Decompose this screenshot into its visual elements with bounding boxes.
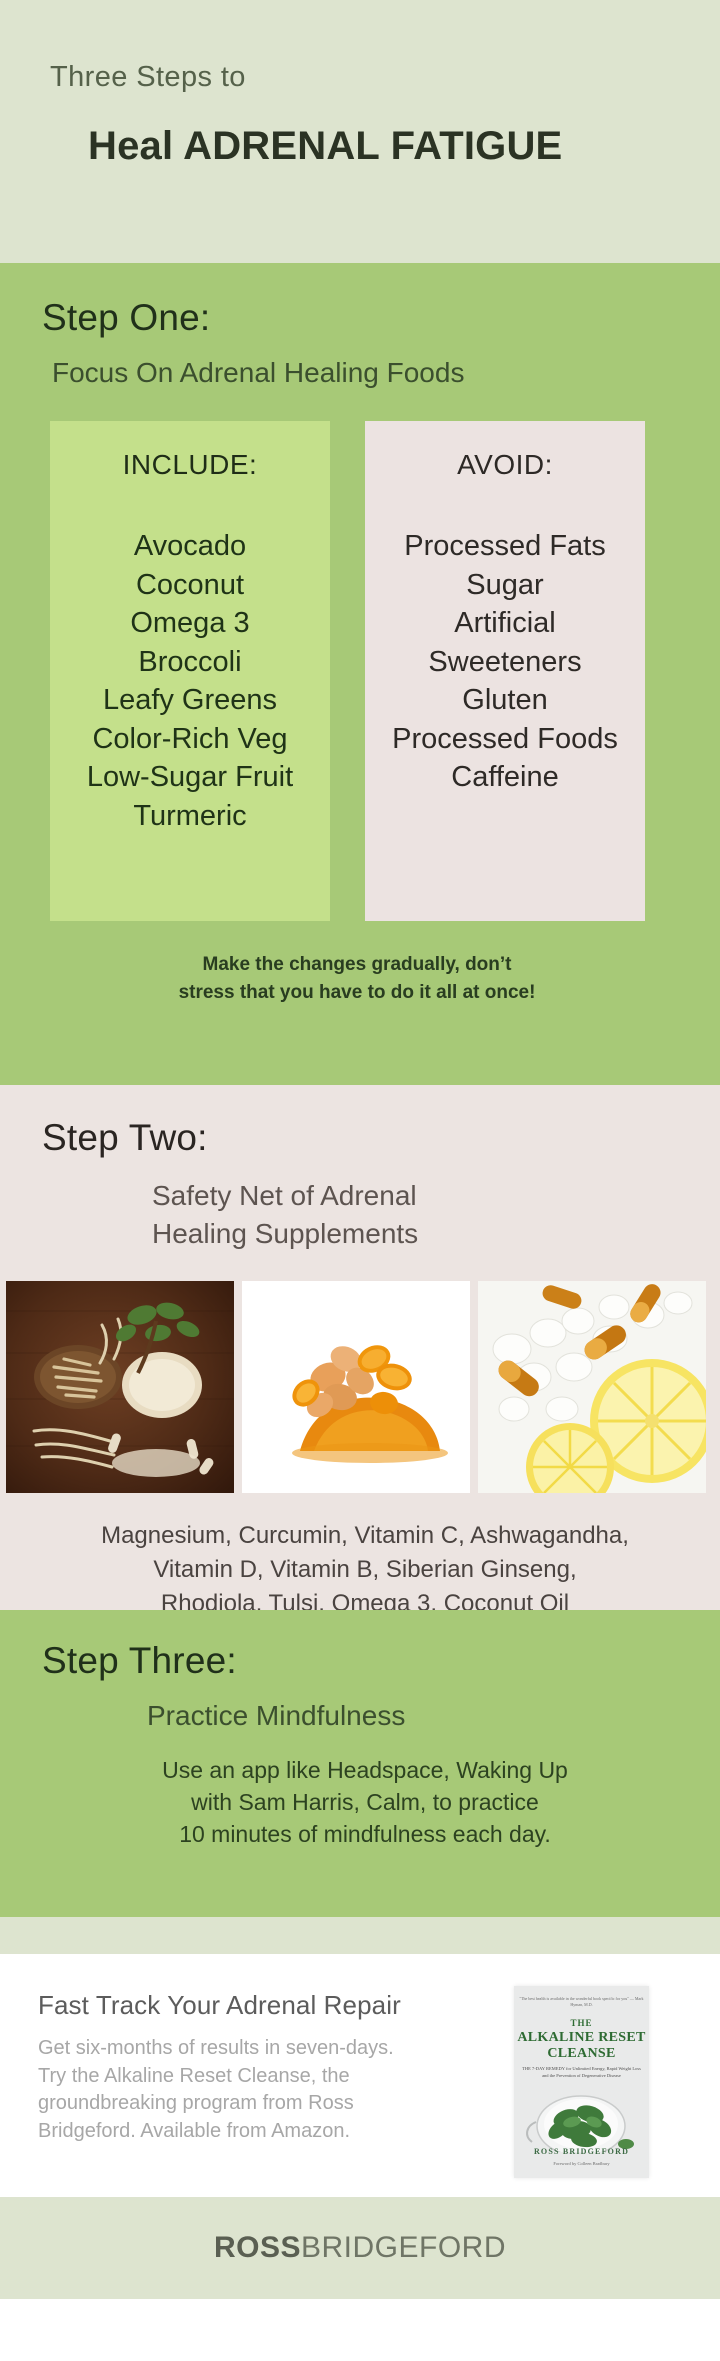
list-item: Omega 3: [50, 604, 330, 643]
book-title-line-1: ALKALINE RESET: [514, 2030, 649, 2046]
step-one-heading: Step One:: [42, 297, 720, 339]
list-item: Processed Foods: [365, 720, 645, 759]
header-section: Three Steps to Heal ADRENAL FATIGUE: [0, 0, 720, 263]
book-title: ALKALINE RESET CLEANSE: [514, 2030, 649, 2062]
step-three-body-line-3: 10 minutes of mindfulness each day.: [20, 1818, 710, 1850]
header-eyebrow: Three Steps to: [50, 62, 720, 94]
book-cover-art: [514, 2078, 649, 2152]
step-two-subheading-line-2: Healing Supplements: [152, 1215, 720, 1253]
supplements-line-2: Vitamin D, Vitamin B, Siberian Ginseng,: [20, 1553, 710, 1587]
promo-body-line-2: Try the Alkaline Reset Cleanse, the: [38, 2063, 498, 2091]
step-three-body-line-1: Use an app like Headspace, Waking Up: [20, 1754, 710, 1786]
page-title: Heal ADRENAL FATIGUE: [88, 124, 720, 169]
note-line-1: Make the changes gradually, don’t: [32, 951, 682, 979]
step-two-subheading: Safety Net of Adrenal Healing Supplement…: [152, 1177, 720, 1253]
step-three-heading: Step Three:: [42, 1640, 720, 1682]
avoid-box: AVOID: Processed Fats Sugar Artificial S…: [365, 421, 645, 921]
step-three-section: Step Three: Practice Mindfulness Use an …: [0, 1610, 720, 1917]
food-boxes: INCLUDE: Avocado Coconut Omega 3 Broccol…: [50, 421, 720, 921]
list-item: Coconut: [50, 566, 330, 605]
step-three-subheading: Practice Mindfulness: [147, 1700, 720, 1732]
list-item: Broccoli: [50, 643, 330, 682]
avoid-list: Processed Fats Sugar Artificial Sweetene…: [365, 527, 645, 797]
book-the-label: THE: [514, 2018, 649, 2028]
supplements-list: Magnesium, Curcumin, Vitamin C, Ashwagan…: [20, 1519, 710, 1621]
promo-body: Get six-months of results in seven-days.…: [38, 2035, 498, 2145]
footer-section: ROSSBRIDGEFORD: [0, 2197, 720, 2299]
list-item: Caffeine: [365, 758, 645, 797]
note-line-2: stress that you have to do it all at onc…: [32, 979, 682, 1007]
promo-body-line-3: groundbreaking program from Ross: [38, 2090, 498, 2118]
list-item: Gluten: [365, 681, 645, 720]
ashwagandha-root-photo: [6, 1281, 234, 1493]
list-item: Turmeric: [50, 797, 330, 836]
book-author: ROSS BRIDGEFORD: [514, 2147, 649, 2156]
brand-logo-first: ROSS: [214, 2231, 301, 2264]
include-box-title: INCLUDE:: [50, 449, 330, 481]
list-item: Low-Sugar Fruit: [50, 758, 330, 797]
brand-logo[interactable]: ROSSBRIDGEFORD: [214, 2231, 506, 2265]
promo-body-line-4: Bridgeford. Available from Amazon.: [38, 2118, 498, 2146]
list-item: Processed Fats: [365, 527, 645, 566]
promo-body-line-1: Get six-months of results in seven-days.: [38, 2035, 498, 2063]
promo-title: Fast Track Your Adrenal Repair: [38, 1990, 498, 2021]
supplement-photo-row: [6, 1281, 720, 1493]
list-item: Sugar: [365, 566, 645, 605]
step-three-body: Use an app like Headspace, Waking Up wit…: [20, 1754, 710, 1851]
avoid-box-title: AVOID:: [365, 449, 645, 481]
promo-text-block: Fast Track Your Adrenal Repair Get six-m…: [38, 1990, 498, 2197]
list-item: Avocado: [50, 527, 330, 566]
infographic-page: Three Steps to Heal ADRENAL FATIGUE Step…: [0, 0, 720, 2361]
list-item: Artificial: [365, 604, 645, 643]
step-one-note: Make the changes gradually, don’t stress…: [32, 951, 682, 1006]
list-item: Sweeteners: [365, 643, 645, 682]
vitamin-pills-lemon-photo: [478, 1281, 706, 1493]
turmeric-root-photo: [242, 1281, 470, 1493]
step-two-heading: Step Two:: [42, 1117, 720, 1159]
book-foreword: Foreword by Colleen Bradbury: [514, 2161, 649, 2166]
step-two-subheading-line-1: Safety Net of Adrenal: [152, 1177, 720, 1215]
step-one-subheading: Focus On Adrenal Healing Foods: [52, 357, 720, 389]
book-blurb: "The best health is available in the won…: [514, 1996, 649, 2008]
promo-section: Fast Track Your Adrenal Repair Get six-m…: [0, 1954, 720, 2197]
step-three-body-line-2: with Sam Harris, Calm, to practice: [20, 1786, 710, 1818]
book-cover-image[interactable]: "The best health is available in the won…: [514, 1986, 649, 2178]
brand-logo-last: BRIDGEFORD: [301, 2231, 506, 2264]
list-item: Color-Rich Veg: [50, 720, 330, 759]
section-divider: [0, 1917, 720, 1954]
include-list: Avocado Coconut Omega 3 Broccoli Leafy G…: [50, 527, 330, 836]
include-box: INCLUDE: Avocado Coconut Omega 3 Broccol…: [50, 421, 330, 921]
book-title-line-2: CLEANSE: [514, 2046, 649, 2062]
supplements-line-1: Magnesium, Curcumin, Vitamin C, Ashwagan…: [20, 1519, 710, 1553]
list-item: Leafy Greens: [50, 681, 330, 720]
step-one-section: Step One: Focus On Adrenal Healing Foods…: [0, 263, 720, 1085]
step-two-section: Step Two: Safety Net of Adrenal Healing …: [0, 1085, 720, 1610]
